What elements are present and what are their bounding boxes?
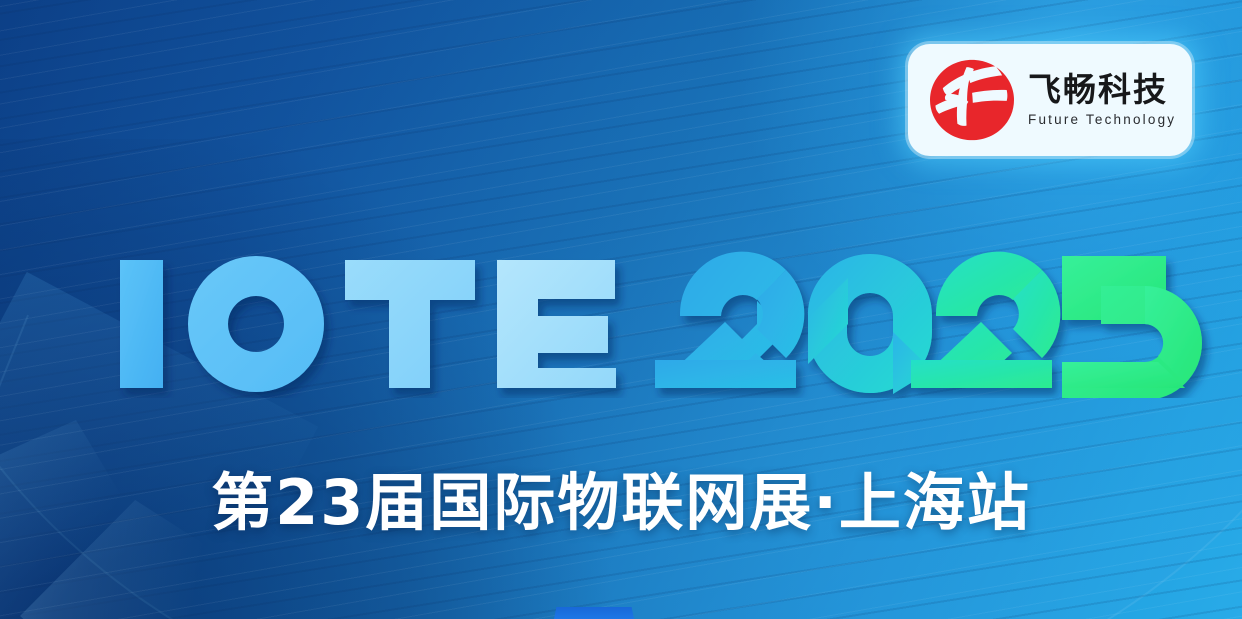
year-digit-five [1060, 248, 1240, 398]
company-logo-text: 飞畅科技 Future Technology [1028, 73, 1178, 128]
company-name-cn: 飞畅科技 [1028, 73, 1178, 108]
poster-subtitle: 第23届国际物联网展·上海站 [0, 452, 1242, 542]
company-name-en: Future Technology [1028, 112, 1178, 127]
feichang-logo-icon [926, 58, 1018, 142]
poster-canvas: 第23届国际物联网展·上海站 飞畅科技 Future Technology [0, 0, 1242, 619]
iote-2025-wordmark [110, 248, 1090, 398]
company-logo-badge[interactable]: 飞畅科技 Future Technology [908, 44, 1192, 156]
